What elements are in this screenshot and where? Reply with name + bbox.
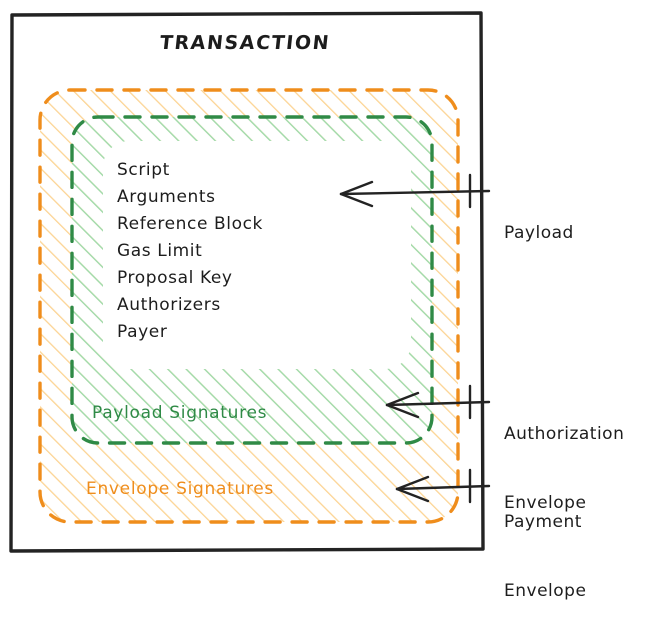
callout-label-payload: Payload (504, 176, 574, 268)
payload-signatures-label: Payload Signatures (92, 403, 267, 423)
envelope-signatures-label: Envelope Signatures (86, 479, 274, 499)
page-title: TRANSACTION (0, 32, 491, 54)
payload-field-payer: Payer (117, 322, 167, 342)
callout-payload-line1: Payload (504, 222, 574, 245)
payload-field-authorizers: Authorizers (117, 295, 221, 315)
payload-field-arguments: Arguments (117, 187, 216, 207)
payload-field-gas-limit: Gas Limit (117, 241, 202, 261)
callout-authorization-line1: Authorization (504, 423, 624, 446)
callout-payment-line1: Payment (504, 511, 586, 534)
callout-payment-line2: Envelope (504, 580, 586, 603)
payload-field-proposal-key: Proposal Key (117, 268, 233, 288)
payload-field-reference-block: Reference Block (117, 214, 263, 234)
payload-field-script: Script (117, 160, 170, 180)
callout-label-payment-envelope: Payment Envelope (504, 465, 586, 626)
